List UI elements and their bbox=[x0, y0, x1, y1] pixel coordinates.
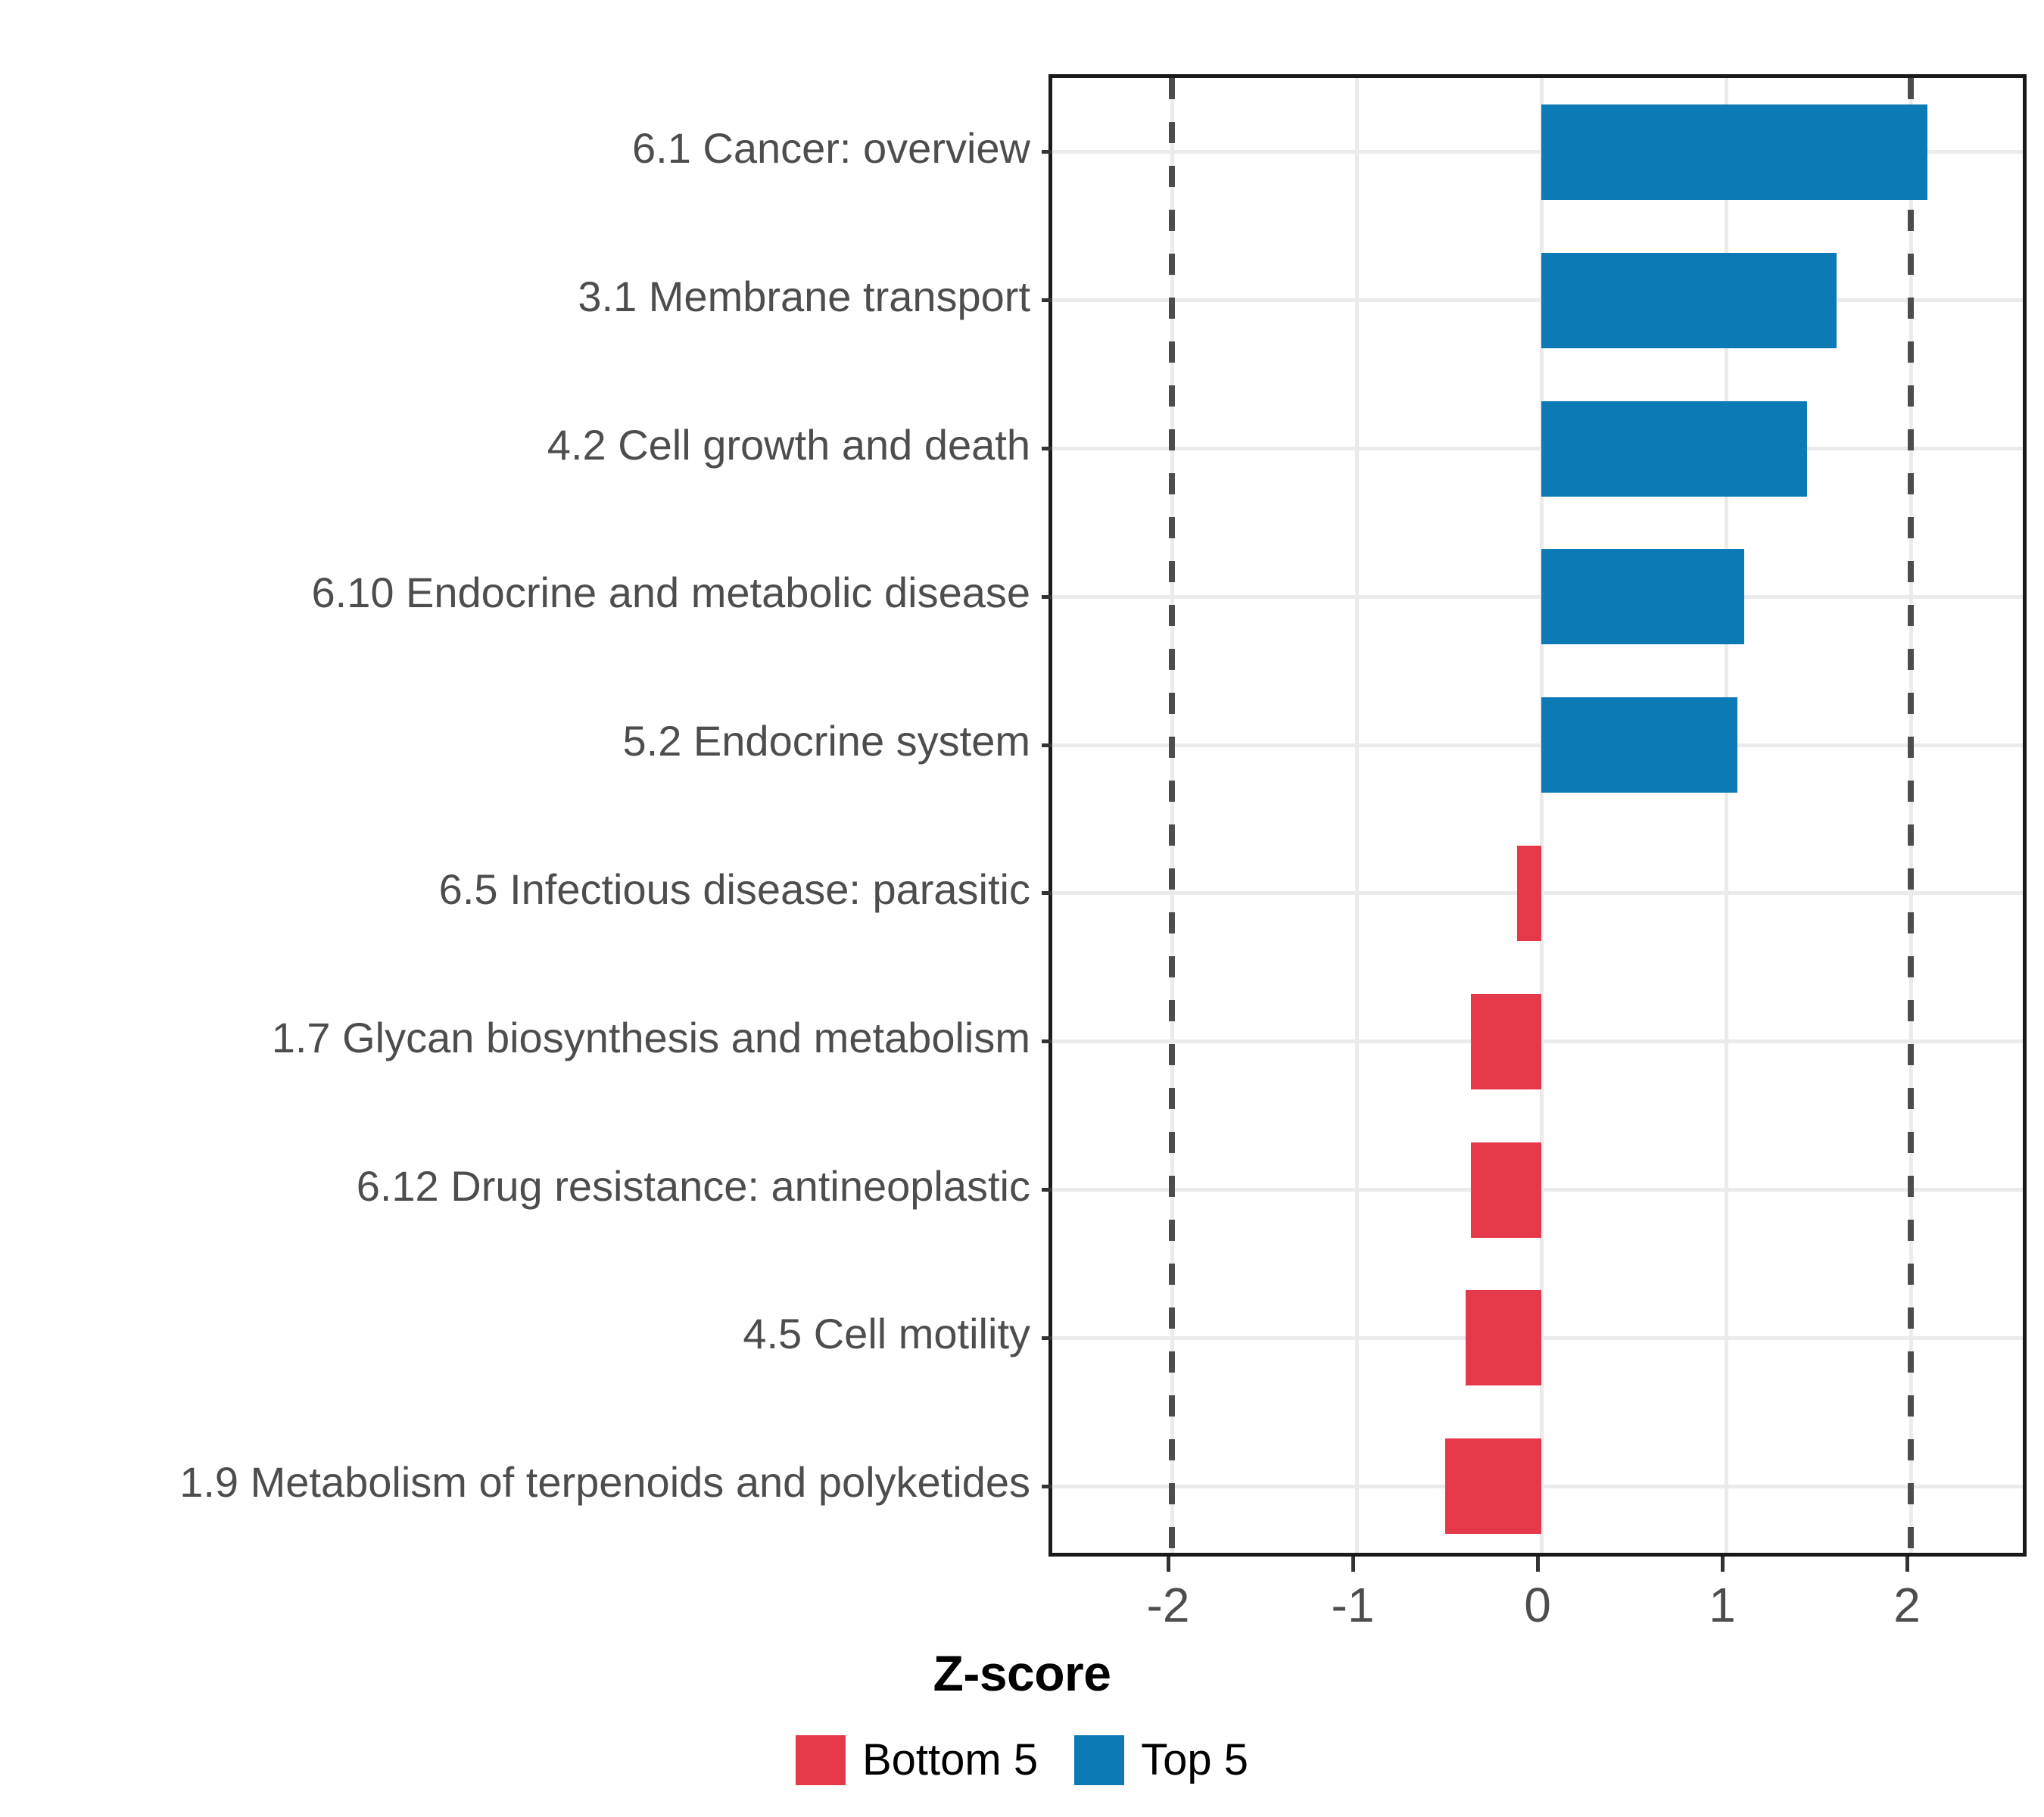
y-axis-tick bbox=[1042, 595, 1052, 599]
legend-item[interactable]: Top 5 bbox=[1074, 1735, 1248, 1785]
y-axis-label: 6.12 Drug resistance: antineoplastic bbox=[357, 1165, 1030, 1208]
legend-swatch bbox=[1074, 1735, 1124, 1785]
bar[interactable] bbox=[1541, 104, 1927, 200]
y-axis-tick bbox=[1042, 447, 1052, 450]
y-axis-label: 3.1 Membrane transport bbox=[578, 276, 1030, 318]
y-axis-label: 6.5 Infectious disease: parasitic bbox=[439, 868, 1030, 911]
bar[interactable] bbox=[1471, 994, 1541, 1089]
y-axis-tick bbox=[1042, 298, 1052, 302]
y-axis-tick bbox=[1042, 1336, 1052, 1340]
y-axis-tick bbox=[1042, 1188, 1052, 1192]
reference-line bbox=[1169, 78, 1175, 1553]
y-axis-tick bbox=[1042, 743, 1052, 747]
y-axis-label: 4.5 Cell motility bbox=[743, 1313, 1030, 1355]
x-axis-tick bbox=[1351, 1557, 1355, 1572]
x-axis-tick-label: -2 bbox=[1147, 1581, 1190, 1629]
bar[interactable] bbox=[1445, 1438, 1541, 1534]
x-axis-tick-label: 0 bbox=[1524, 1581, 1551, 1629]
bar[interactable] bbox=[1471, 1142, 1541, 1238]
x-axis-tick-label: 2 bbox=[1893, 1581, 1921, 1629]
bar[interactable] bbox=[1541, 253, 1837, 348]
horizontal-gridline bbox=[1052, 595, 2023, 599]
y-axis-label: 6.1 Cancer: overview bbox=[632, 127, 1030, 170]
legend-item[interactable]: Bottom 5 bbox=[796, 1735, 1038, 1785]
y-axis-label: 5.2 Endocrine system bbox=[623, 720, 1030, 762]
y-axis-tick bbox=[1042, 891, 1052, 895]
chart-root: 6.1 Cancer: overview3.1 Membrane transpo… bbox=[0, 0, 2044, 1817]
horizontal-gridline bbox=[1052, 743, 2023, 747]
legend-label: Bottom 5 bbox=[862, 1738, 1038, 1782]
bar[interactable] bbox=[1466, 1290, 1541, 1385]
x-axis-tick bbox=[1167, 1557, 1170, 1572]
y-axis-label: 4.2 Cell growth and death bbox=[547, 424, 1030, 466]
bar[interactable] bbox=[1541, 697, 1737, 793]
x-axis-tick-label: 1 bbox=[1709, 1581, 1736, 1629]
plot-area bbox=[1052, 78, 2023, 1553]
x-axis-tick bbox=[1721, 1557, 1725, 1572]
y-axis-tick bbox=[1042, 1485, 1052, 1488]
x-axis-tick bbox=[1536, 1557, 1540, 1572]
bar[interactable] bbox=[1517, 846, 1541, 941]
legend-label: Top 5 bbox=[1141, 1738, 1248, 1782]
legend: Bottom 5Top 5 bbox=[0, 1735, 2044, 1785]
y-axis-label: 6.10 Endocrine and metabolic disease bbox=[311, 572, 1030, 614]
y-axis-label: 1.7 Glycan biosynthesis and metabolism bbox=[272, 1017, 1030, 1059]
reference-line bbox=[1908, 78, 1914, 1553]
horizontal-gridline bbox=[1052, 447, 2023, 450]
x-axis-title: Z-score bbox=[0, 1644, 2044, 1702]
plot-panel bbox=[1048, 74, 2027, 1557]
y-axis-label: 1.9 Metabolism of terpenoids and polyket… bbox=[179, 1461, 1030, 1504]
x-axis-tick bbox=[1905, 1557, 1909, 1572]
horizontal-gridline bbox=[1052, 298, 2023, 302]
y-axis-tick bbox=[1042, 1039, 1052, 1043]
bar[interactable] bbox=[1541, 401, 1807, 497]
bar[interactable] bbox=[1541, 549, 1744, 644]
x-axis-tick-label: -1 bbox=[1332, 1581, 1375, 1629]
legend-swatch bbox=[796, 1735, 846, 1785]
y-axis-tick bbox=[1042, 150, 1052, 154]
